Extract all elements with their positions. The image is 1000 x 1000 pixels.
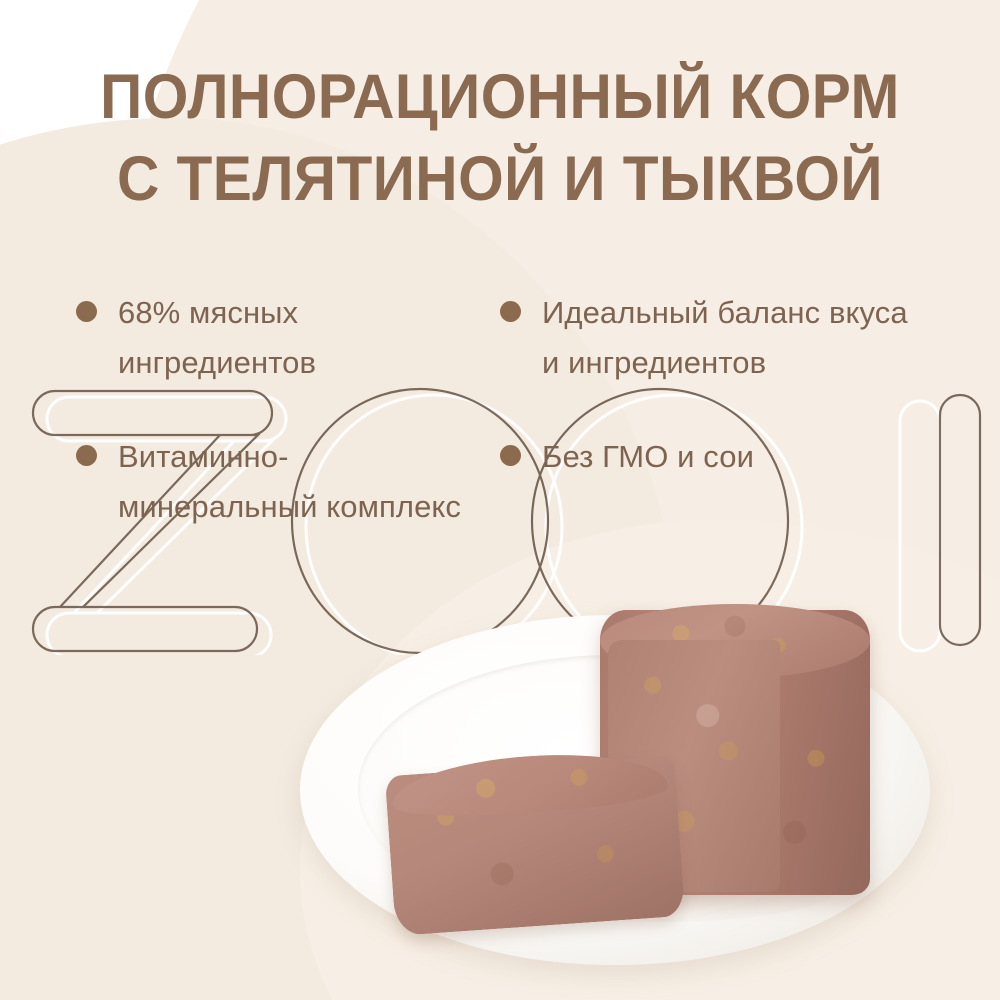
list-item: Витаминно-минеральный комплекс: [76, 432, 476, 532]
title-line-1: ПОЛНОРАЦИОННЫЙ КОРМ: [35, 56, 965, 138]
bullet-dot-icon: [500, 301, 521, 322]
list-item: 68% мясных ингредиентов: [76, 288, 476, 388]
product-photo: [300, 600, 960, 1000]
title-line-2: С ТЕЛЯТИНОЙ И ТЫКВОЙ: [35, 138, 965, 220]
page-title: ПОЛНОРАЦИОННЫЙ КОРМ С ТЕЛЯТИНОЙ И ТЫКВОЙ: [0, 56, 1000, 220]
feature-text: Без ГМО и сои: [542, 432, 754, 482]
list-item: Без ГМО и сои: [500, 432, 930, 482]
feature-list-left: 68% мясных ингредиентов Витаминно-минера…: [76, 288, 476, 576]
feature-text: Идеальный баланс вкуса и ингредиентов: [542, 288, 930, 388]
bullet-dot-icon: [500, 445, 521, 466]
feature-text: Витаминно-минеральный комплекс: [118, 432, 476, 532]
bullet-dot-icon: [76, 301, 97, 322]
bullet-dot-icon: [76, 445, 97, 466]
feature-list-right: Идеальный баланс вкуса и ингредиентов Бе…: [500, 288, 930, 526]
pate-slice-graphic: [385, 756, 685, 936]
list-item: Идеальный баланс вкуса и ингредиентов: [500, 288, 930, 388]
feature-text: 68% мясных ингредиентов: [118, 288, 476, 388]
product-banner: ПОЛНОРАЦИОННЫЙ КОРМ С ТЕЛЯТИНОЙ И ТЫКВОЙ…: [0, 0, 1000, 1000]
